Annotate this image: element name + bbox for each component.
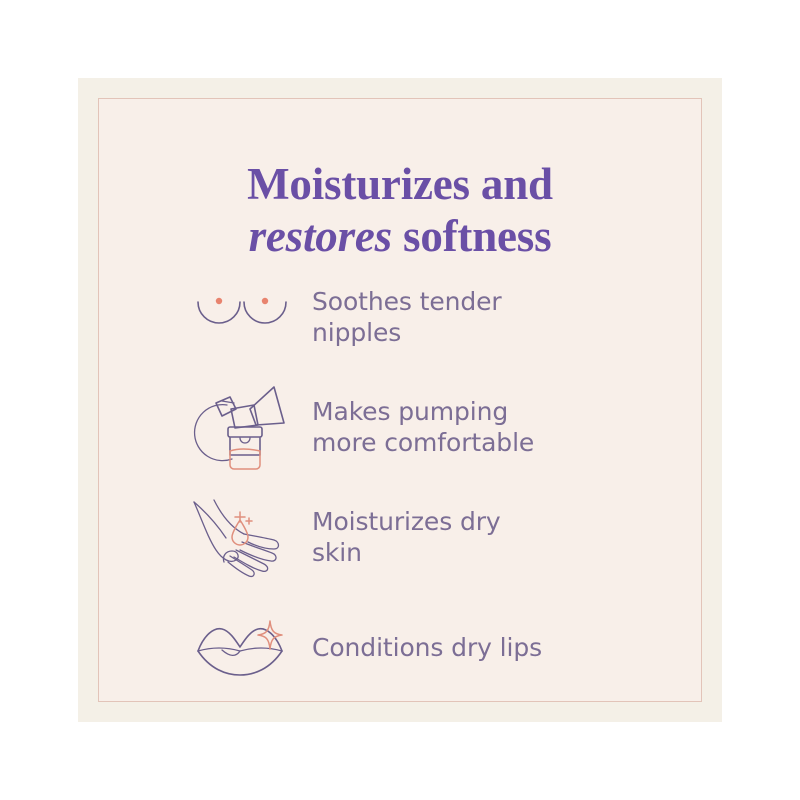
benefit-label: Makes pumping more comfortable	[294, 396, 610, 458]
benefit-label-line-2: more comfortable	[312, 427, 610, 458]
benefits-list: Soothes tender nipples	[190, 262, 610, 702]
product-benefits-card: Moisturizes and restores softness Soothe…	[0, 0, 800, 800]
benefit-label-line-2: nipples	[312, 317, 610, 348]
heading-italic-word: restores	[249, 211, 392, 261]
list-item: Makes pumping more comfortable	[190, 372, 610, 482]
list-item: Moisturizes dry skin	[190, 482, 610, 592]
breasts-icon	[190, 271, 294, 363]
benefit-label-line-1: Conditions dry lips	[312, 632, 610, 663]
hand-droplet-icon	[190, 491, 294, 583]
benefit-label: Conditions dry lips	[294, 632, 610, 663]
heading-line-2: restores softness	[98, 210, 702, 262]
benefit-label: Moisturizes dry skin	[294, 506, 610, 568]
list-item: Soothes tender nipples	[190, 262, 610, 372]
benefit-label: Soothes tender nipples	[294, 286, 610, 348]
page-title: Moisturizes and restores softness	[98, 158, 702, 262]
heading-line-1: Moisturizes and	[98, 158, 702, 210]
breast-pump-icon	[190, 381, 294, 473]
list-item: Conditions dry lips	[190, 592, 610, 702]
benefit-label-line-1: Soothes tender	[312, 286, 610, 317]
lips-sparkle-icon	[190, 601, 294, 693]
benefit-label-line-2: skin	[312, 537, 610, 568]
benefit-label-line-1: Moisturizes dry	[312, 506, 610, 537]
heading-line-2-rest: softness	[392, 211, 551, 261]
benefit-label-line-1: Makes pumping	[312, 396, 610, 427]
